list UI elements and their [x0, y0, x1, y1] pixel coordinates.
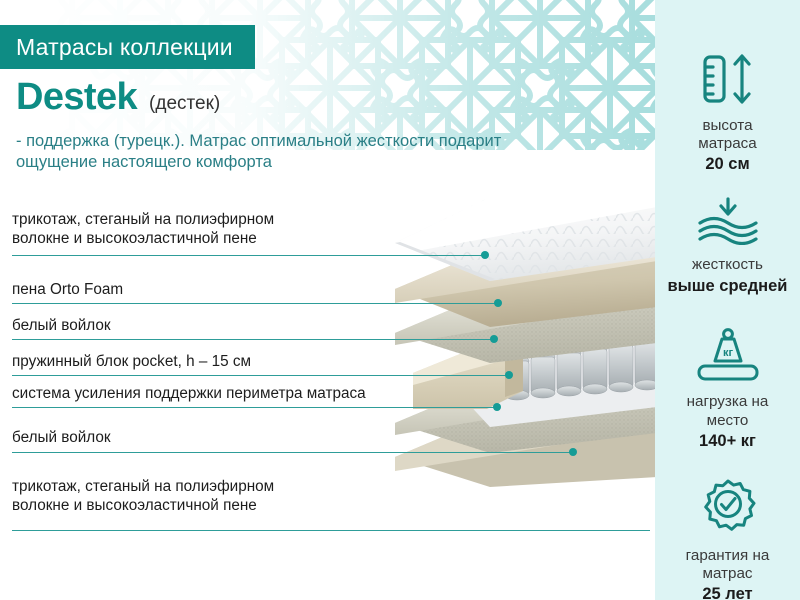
firmness-waves-icon	[692, 197, 764, 245]
leader-dot-white-felt-lower	[569, 448, 577, 456]
feature-height-label: высота матраса	[698, 117, 756, 153]
leader-dot-top-knit	[481, 251, 489, 259]
feature-firmness-label: жесткость	[692, 256, 763, 274]
feature-guarantee-value: 25 лет	[702, 585, 752, 600]
ruler-height-icon	[696, 52, 760, 106]
leader-line-orto-foam	[12, 303, 497, 304]
leader-dot-orto-foam	[494, 299, 502, 307]
feature-guarantee: гарантия на матрас 25 лет	[655, 478, 800, 600]
feature-height: высота матраса 20 см	[655, 52, 800, 175]
guarantee-badge-icon	[699, 478, 757, 536]
leader-dot-white-felt-upper	[490, 335, 498, 343]
brand-name: Destek	[16, 78, 137, 116]
layer-label-white-felt-lower: белый войлок	[12, 429, 332, 448]
geometric-pattern-background	[0, 0, 660, 150]
collection-banner: Матрасы коллекции	[0, 25, 255, 69]
leader-line-white-felt-upper	[12, 339, 493, 340]
leader-line-top-knit	[12, 255, 484, 256]
weight-icon-unit: кг	[722, 347, 733, 359]
leader-line-pocket-spring	[12, 375, 508, 376]
layer-label-bottom-knit: трикотаж, стеганый на полиэфирном волокн…	[12, 478, 412, 515]
leader-dot-pocket-spring	[505, 371, 513, 379]
collection-banner-label: Матрасы коллекции	[16, 34, 233, 61]
product-description: - поддержка (турецк.). Матрас оптимально…	[16, 131, 576, 173]
weight-load-icon: кг	[693, 326, 763, 382]
layer-label-orto-foam: пена Orto Foam	[12, 281, 332, 300]
layer-label-perimeter-support: система усиления поддержки периметра мат…	[12, 385, 492, 404]
feature-firmness-value: выше средней	[668, 277, 788, 297]
feature-sidebar: высота матраса 20 см жесткость выше сред…	[655, 0, 800, 600]
feature-load: кг нагрузка на место 140+ кг	[655, 326, 800, 451]
layer-label-pocket-spring: пружинный блок pocket, h – 15 см	[12, 353, 372, 372]
feature-firmness: жесткость выше средней	[655, 197, 800, 296]
brand-transliteration: (дестек)	[149, 94, 220, 113]
feature-load-label: нагрузка на место	[687, 393, 769, 429]
mattress-cutaway-illustration	[395, 195, 657, 500]
leader-line-perimeter-support	[12, 407, 496, 408]
leader-line-bottom-knit	[12, 530, 650, 531]
feature-height-value: 20 см	[705, 155, 749, 175]
feature-guarantee-label: гарантия на матрас	[686, 547, 770, 583]
layer-label-top-knit: трикотаж, стеганый на полиэфирном волокн…	[12, 211, 412, 248]
product-title-row: Destek (дестек)	[16, 78, 220, 116]
layer-label-white-felt-upper: белый войлок	[12, 317, 332, 336]
leader-dot-perimeter-support	[493, 403, 501, 411]
feature-load-value: 140+ кг	[699, 432, 756, 452]
mattress-product-infographic: Матрасы коллекции Destek (дестек) - подд…	[0, 0, 800, 600]
leader-line-white-felt-lower	[12, 452, 572, 453]
